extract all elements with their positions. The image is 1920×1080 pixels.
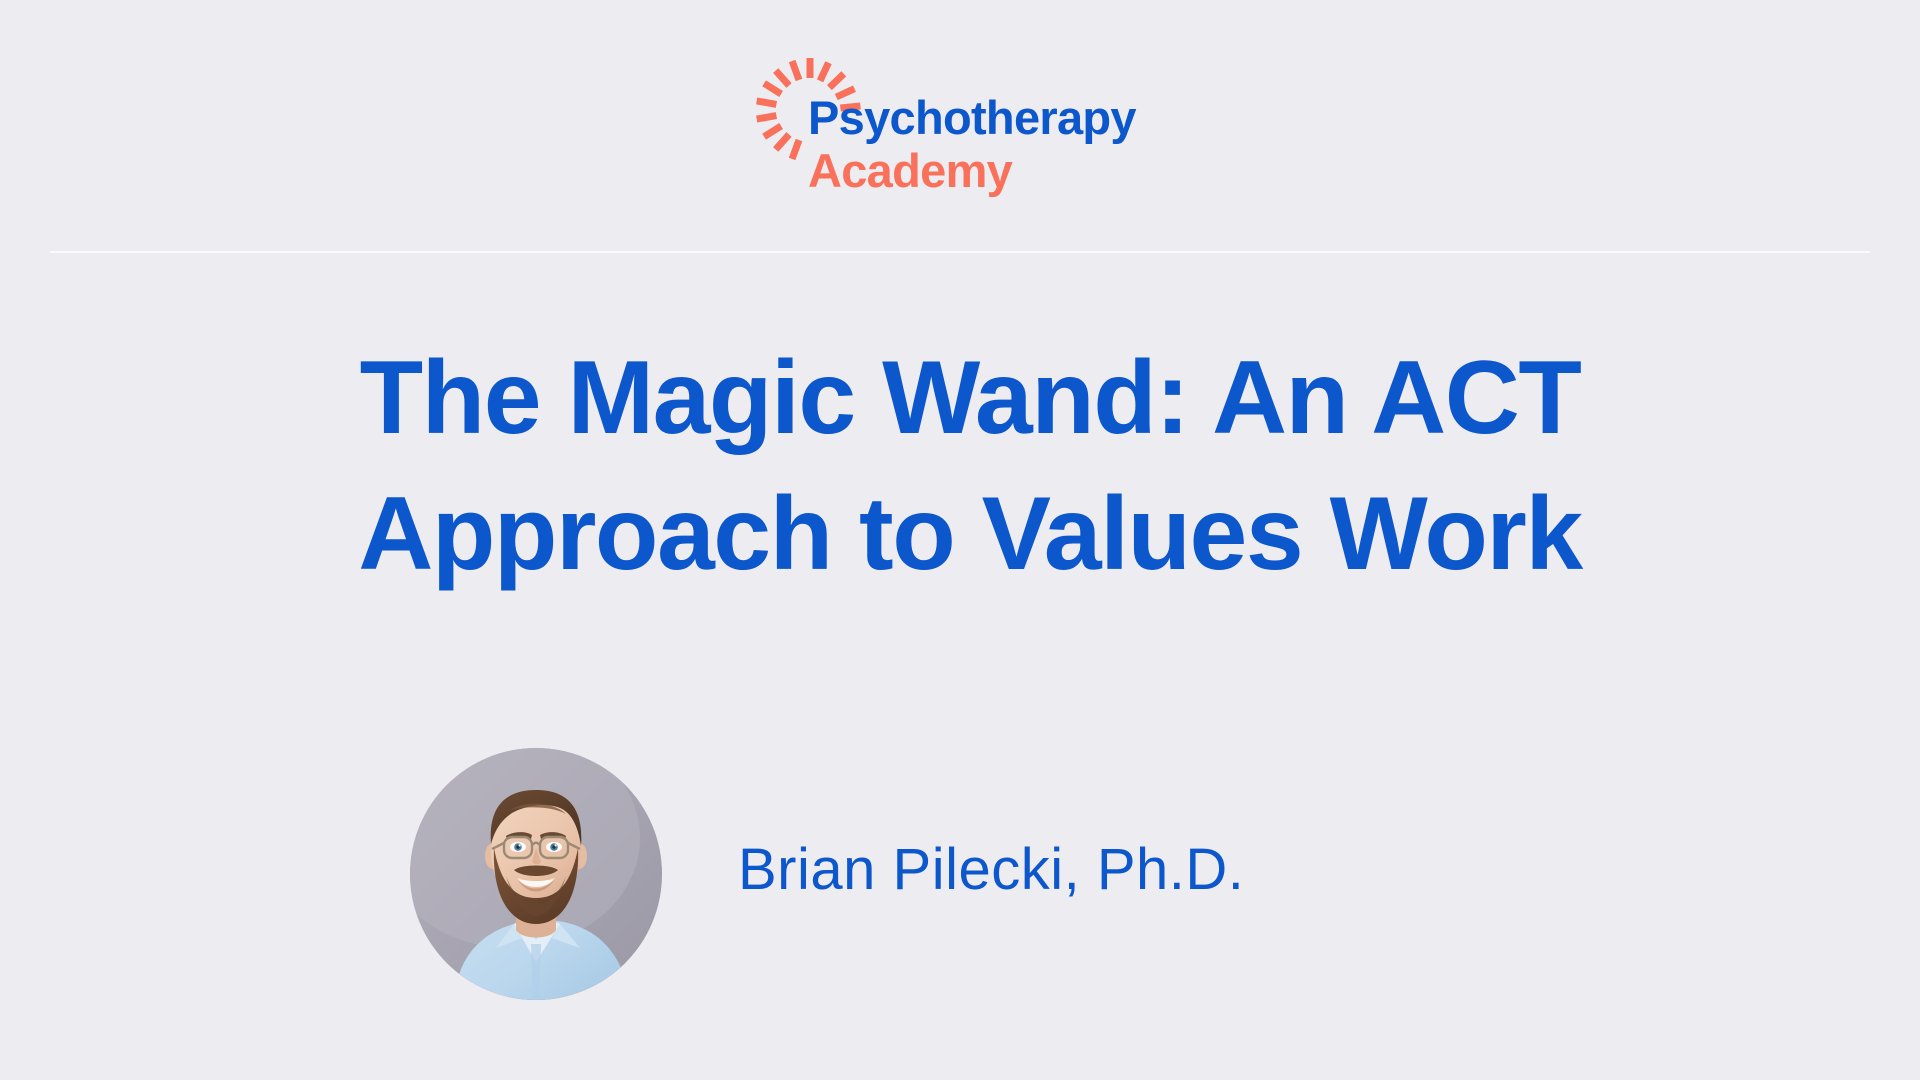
brand-header: Psychotherapy Academy xyxy=(0,0,1920,250)
page-title: The Magic Wand: An ACT Approach to Value… xyxy=(160,330,1780,602)
presenter-block: Brian Pilecki, Ph.D. xyxy=(410,748,1410,1008)
presenter-name: Brian Pilecki, Ph.D. xyxy=(738,836,1244,904)
title-block: The Magic Wand: An ACT Approach to Value… xyxy=(160,330,1780,602)
logo-wordmark: Psychotherapy Academy xyxy=(808,92,1208,198)
logo-wordmark-psychotherapy: Psychotherapy xyxy=(808,92,1208,144)
avatar xyxy=(410,748,662,1000)
header-divider xyxy=(50,251,1870,253)
title-slide: Psychotherapy Academy The Magic Wand: An… xyxy=(0,0,1920,1080)
logo-wordmark-academy: Academy xyxy=(808,144,1208,198)
academy-logo: Psychotherapy Academy xyxy=(750,40,1200,210)
